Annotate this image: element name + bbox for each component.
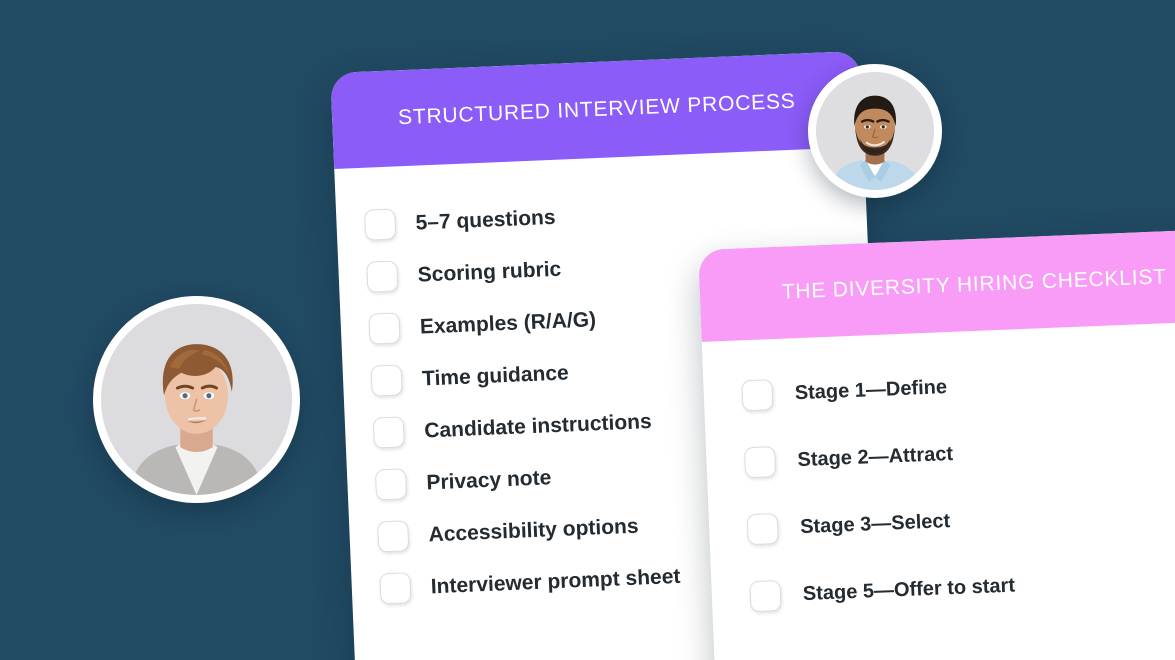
card-title: STRUCTURED INTERVIEW PROCESS bbox=[398, 90, 796, 131]
checkbox-icon[interactable] bbox=[366, 260, 398, 292]
avatar-portrait-man bbox=[808, 64, 942, 198]
checkbox-icon[interactable] bbox=[747, 513, 779, 545]
poster-canvas: STRUCTURED INTERVIEW PROCESS 5–7 questio… bbox=[0, 0, 1175, 660]
checkbox-icon[interactable] bbox=[371, 364, 403, 396]
avatar-portrait-woman bbox=[93, 296, 300, 503]
checklist-diversity-hiring: Stage 1—Define Stage 2—Attract Stage 3—S… bbox=[702, 319, 1175, 613]
card-title: THE DIVERSITY HIRING CHECKLIST bbox=[781, 265, 1167, 304]
checklist-item[interactable]: Stage 2—Attract bbox=[744, 426, 1175, 478]
checklist-item-label: Candidate instructions bbox=[424, 409, 652, 443]
checklist-item-label: Interviewer prompt sheet bbox=[430, 564, 681, 598]
card-diversity-hiring-checklist: THE DIVERSITY HIRING CHECKLIST Stage 1—D… bbox=[698, 228, 1175, 660]
checkbox-icon[interactable] bbox=[375, 468, 407, 500]
checklist-item-label: Examples (R/A/G) bbox=[419, 308, 596, 339]
checkbox-icon[interactable] bbox=[368, 312, 400, 344]
checklist-item-label: Stage 1—Define bbox=[794, 376, 947, 405]
checklist-item-label: Privacy note bbox=[426, 466, 552, 495]
checklist-item-label: 5–7 questions bbox=[415, 205, 556, 235]
portrait-photo-woman-icon bbox=[101, 304, 292, 495]
checkbox-icon[interactable] bbox=[749, 580, 781, 612]
checkbox-icon[interactable] bbox=[364, 209, 396, 241]
checklist-item[interactable]: Stage 3—Select bbox=[747, 493, 1175, 545]
checkbox-icon[interactable] bbox=[373, 416, 405, 448]
portrait-photo-man-icon bbox=[816, 72, 934, 190]
checkbox-icon[interactable] bbox=[744, 446, 776, 478]
checklist-item[interactable]: Stage 5—Offer to start bbox=[749, 560, 1175, 612]
checklist-item-label: Scoring rubric bbox=[417, 257, 561, 287]
checklist-item-label: Time guidance bbox=[422, 361, 570, 391]
checklist-item-label: Accessibility options bbox=[428, 514, 639, 547]
checklist-item[interactable]: 5–7 questions bbox=[364, 189, 867, 241]
checkbox-icon[interactable] bbox=[741, 379, 773, 411]
checklist-item-label: Stage 3—Select bbox=[800, 510, 951, 539]
checkbox-icon[interactable] bbox=[379, 572, 411, 604]
checklist-item-label: Stage 5—Offer to start bbox=[802, 575, 1015, 607]
checklist-item-label: Stage 2—Attract bbox=[797, 443, 953, 472]
checklist-item[interactable]: Stage 1—Define bbox=[741, 359, 1175, 411]
checkbox-icon[interactable] bbox=[377, 520, 409, 552]
